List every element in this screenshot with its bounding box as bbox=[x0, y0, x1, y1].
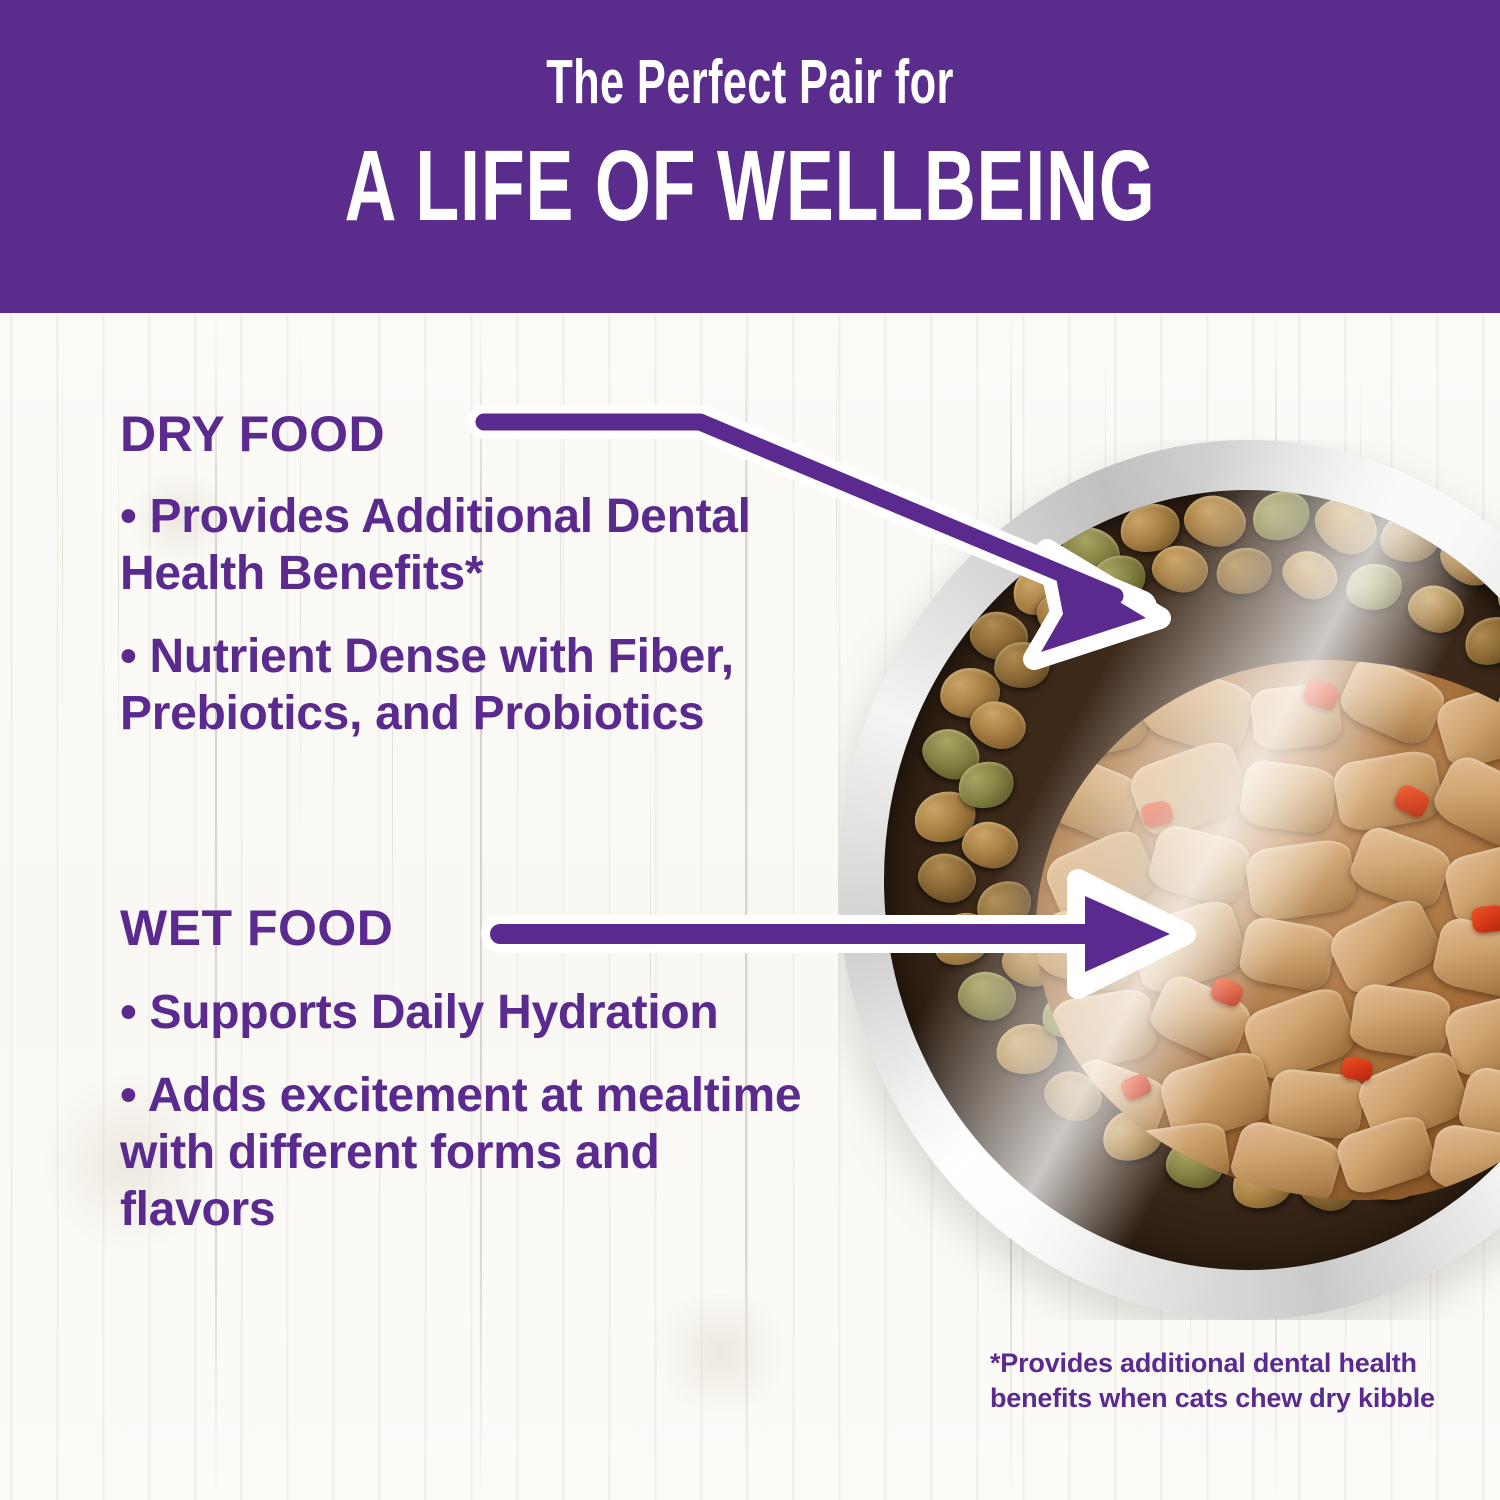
header-banner: The Perfect Pair for A LIFE OF WELLBEING bbox=[0, 0, 1500, 313]
list-item: • Supports Daily Hydration bbox=[120, 984, 820, 1041]
banner-kicker: The Perfect Pair for bbox=[225, 52, 1275, 114]
cat-food-bowl-photo bbox=[838, 440, 1500, 1320]
bowl-rim bbox=[838, 440, 1500, 1320]
list-item: • Adds excitement at mealtime with diffe… bbox=[120, 1067, 820, 1238]
list-item: • Provides Additional Dental Health Bene… bbox=[120, 488, 880, 602]
bowl-interior bbox=[884, 490, 1500, 1270]
dry-food-bullets: • Provides Additional Dental Health Bene… bbox=[120, 488, 880, 742]
wet-food-heading: WET FOOD bbox=[120, 902, 393, 954]
dry-food-heading: DRY FOOD bbox=[120, 408, 385, 460]
footnote-text: *Provides additional dental health benef… bbox=[990, 1346, 1440, 1416]
banner-headline: A LIFE OF WELLBEING bbox=[210, 136, 1290, 236]
wet-food-bullets: • Supports Daily Hydration • Adds excite… bbox=[120, 984, 820, 1238]
wet-food-area bbox=[1036, 660, 1500, 1200]
list-item: • Nutrient Dense with Fiber, Prebiotics,… bbox=[120, 628, 880, 742]
promo-image: The Perfect Pair for A LIFE OF WELLBEING… bbox=[0, 0, 1500, 1500]
